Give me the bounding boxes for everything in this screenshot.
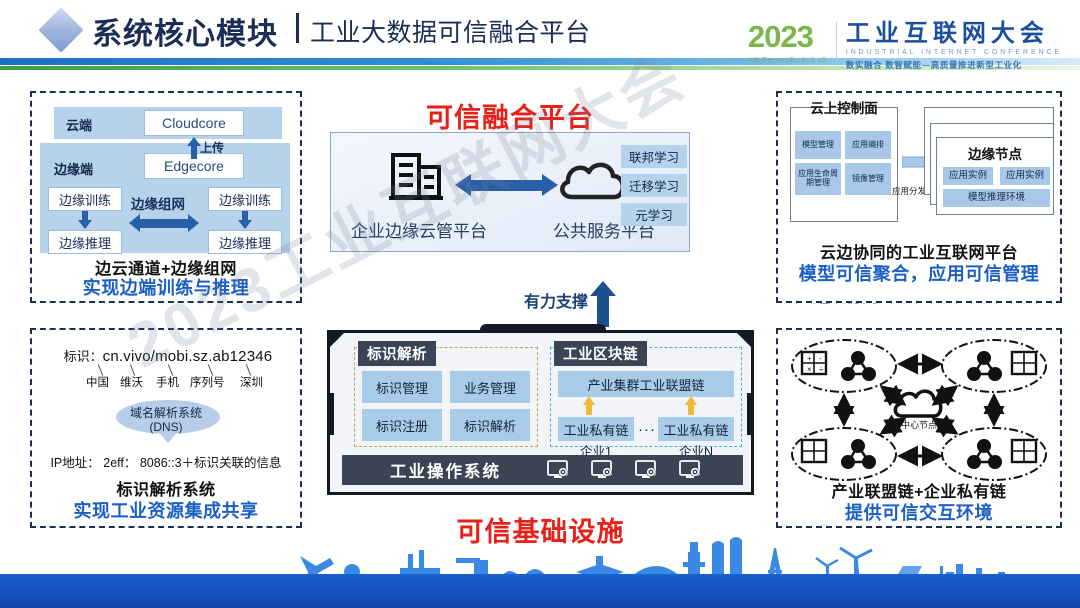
up-arrow-icon: [590, 281, 616, 327]
conference-logo: 2023 中国·苏州 2023年11月2日-3日 工业互联网大会 INDUSTR…: [748, 22, 1062, 71]
legend-serial: 序列号: [190, 374, 225, 390]
conference-name-cn: 工业互联网大会: [846, 22, 1062, 46]
cell-private-chain-1: 工业私有链: [558, 417, 634, 441]
panel-identifier-resolution: 标识：cn.vivo/mobi.sz.ab12346 中国 维沃 手机 序列号 …: [30, 328, 302, 528]
upload-arrow-stem: [191, 145, 197, 159]
panel-chain-network: +- ×÷: [776, 328, 1062, 528]
cell-app-orchestration: 应用编排: [845, 131, 891, 159]
left-infer-box: 边缘推理: [48, 230, 122, 254]
collab-arrow-bar: [470, 180, 542, 191]
grid-icon: +- ×÷: [802, 352, 826, 374]
identifier-caption-blue: 实现工业资源集成共享: [32, 497, 300, 523]
industrial-os-bar: 工业操作系统: [342, 455, 743, 485]
network-diagram: +- ×÷: [778, 334, 1060, 482]
network-caption-blue: 提供可信交互环境: [778, 499, 1060, 525]
legend-vivo: 维沃: [120, 374, 143, 390]
monitor-gear-icon: [635, 460, 657, 480]
collab-arrow-right-icon: [542, 174, 558, 196]
panel-cloud-edge-collab: 云上控制面 模型管理 应用编排 应用生命周期管理 镜像管理 应用分发 边缘节点 …: [776, 91, 1062, 303]
right-train-box: 边缘训练: [208, 187, 282, 211]
group-identifier-title: 标识解析: [358, 341, 436, 366]
identifier-value: cn.vivo/mobi.sz.ab12346: [103, 348, 273, 365]
cell-private-chain-n: 工业私有链: [658, 417, 734, 441]
cell-model-mgmt: 模型管理: [795, 131, 841, 159]
right-down-arrow-icon: [238, 220, 252, 229]
sea-band: [0, 574, 1080, 608]
tag-transfer-learning: 迁移学习: [621, 174, 687, 197]
mesh-arrow-bar: [140, 219, 188, 228]
mesh-arrow-left-icon: [129, 214, 140, 232]
side-notch-right: [747, 393, 754, 435]
chain-up-arrow-right-icon: [685, 396, 697, 405]
upload-arrow-icon: [187, 137, 201, 146]
identifier-line: 标识：cn.vivo/mobi.sz.ab12346: [32, 346, 304, 365]
page-subtitle: 工业大数据可信融合平台: [310, 13, 591, 49]
node-cluster-icon: [841, 351, 876, 381]
legend-phone: 手机: [156, 374, 179, 390]
building-icon: [389, 151, 443, 201]
conference-place: 中国·苏州 2023年11月2日-3日: [748, 56, 827, 64]
edge-node-title: 边缘节点: [936, 143, 1054, 163]
diamond-icon: [38, 7, 83, 52]
cell-id-registration: 标识注册: [362, 409, 442, 441]
dns-label-cn: 域名解析系统: [32, 404, 300, 421]
upload-label: 上传: [200, 139, 224, 156]
group-blockchain-title: 工业区块链: [554, 341, 647, 366]
node-group-bl: [792, 428, 896, 480]
node-group-br: [942, 428, 1046, 480]
cell-id-resolution: 标识解析: [450, 409, 530, 441]
grid-icon: [1012, 352, 1036, 374]
control-plane-title: 云上控制面: [790, 97, 898, 117]
slide-root: 2023工业互联网大会 系统核心模块 工业大数据可信融合平台 2023 中国·苏…: [0, 0, 1080, 608]
panel-edge-cloud: 云端 Cloudcore 边缘端 Edgecore 上传 边缘训练 边缘推理 边…: [30, 91, 302, 303]
legend-shenzhen: 深圳: [240, 374, 263, 390]
node-cluster-icon: [841, 439, 876, 469]
mesh-arrow-right-icon: [188, 214, 199, 232]
cloud-label: 云端: [66, 115, 92, 134]
cloudcore-box: Cloudcore: [144, 110, 244, 136]
logo-divider: [836, 22, 837, 62]
chain-ellipsis: ···: [638, 421, 656, 438]
cell-image-mgmt: 镜像管理: [845, 163, 891, 195]
corner-notch-tl: [327, 330, 347, 350]
left-platform-label: 企业边缘云管平台: [351, 217, 487, 242]
top-tab-notch: [480, 324, 606, 332]
dns-label-en: (DNS): [32, 420, 300, 434]
monitor-gear-icon: [591, 460, 613, 480]
center-node-label: 中心节点: [901, 419, 937, 430]
page-title: 系统核心模块: [92, 9, 278, 53]
right-infer-box: 边缘推理: [208, 230, 282, 254]
distribute-label: 应用分发: [892, 185, 926, 197]
node-cluster-icon: [967, 351, 1002, 381]
svg-text:-: -: [819, 354, 822, 363]
mesh-label: 边缘组网: [131, 193, 185, 213]
left-train-box: 边缘训练: [48, 187, 122, 211]
collab-arrow-left-icon: [455, 174, 471, 196]
platform-title: 可信融合平台: [330, 96, 690, 135]
conference-name-en: INDUSTRIAL INTERNET CONFERENCE: [846, 49, 1062, 56]
tag-federated-learning: 联邦学习: [621, 145, 687, 168]
monitor-gear-icon: [679, 460, 701, 480]
conference-slogan: 数实融合 数智赋能—高质量推进新型工业化: [846, 59, 1062, 71]
industrial-os-label: 工业操作系统: [390, 458, 501, 482]
cell-id-management: 标识管理: [362, 371, 442, 403]
legend-china: 中国: [86, 374, 109, 390]
monitor-gear-icon: [547, 460, 569, 480]
edge-caption-blue: 实现边端训练与推理: [32, 274, 300, 300]
left-down-arrow-icon: [78, 220, 92, 229]
cloudedge-caption-blue: 模型可信聚合，应用可信管理: [778, 260, 1060, 286]
os-icon-group: [547, 460, 701, 480]
cell-app-lifecycle: 应用生命周期管理: [795, 163, 841, 195]
node-group-tr: [942, 340, 1046, 392]
support-label: 有力支撑: [524, 288, 588, 312]
ip-address-line: IP地址： 2eff： 8086::3＋标识关联的信息: [32, 452, 300, 471]
conference-year: 2023: [748, 22, 827, 51]
panel-trusted-platform: 边云协同 企业边缘云管平台 公共服务平台 联邦学习 迁移学习 元学习: [330, 132, 690, 252]
cell-app-instance-1: 应用实例: [943, 167, 993, 185]
cell-app-instance-2: 应用实例: [1000, 167, 1050, 185]
panel-trusted-infrastructure: 标识解析 标识管理 业务管理 标识注册 标识解析 工业区块链 产业集群工业联盟链…: [327, 330, 754, 495]
side-notch-left: [327, 393, 334, 435]
title-divider: [296, 13, 299, 43]
svg-text:+: +: [807, 354, 812, 363]
svg-text:÷: ÷: [819, 365, 824, 374]
tag-meta-learning: 元学习: [621, 203, 687, 226]
svg-text:×: ×: [807, 365, 812, 374]
cloud-icon: [556, 151, 630, 201]
edge-label: 边缘端: [54, 159, 93, 178]
chain-up-arrow-left-icon: [583, 396, 595, 405]
grid-icon: [1012, 440, 1036, 462]
cell-inference-env: 模型推理环境: [943, 189, 1050, 207]
identifier-prefix: 标识：: [64, 349, 103, 364]
cell-alliance-chain: 产业集群工业联盟链: [558, 371, 734, 397]
cell-business-management: 业务管理: [450, 371, 530, 403]
node-cluster-icon: [967, 439, 1002, 469]
grid-icon: [802, 440, 826, 462]
